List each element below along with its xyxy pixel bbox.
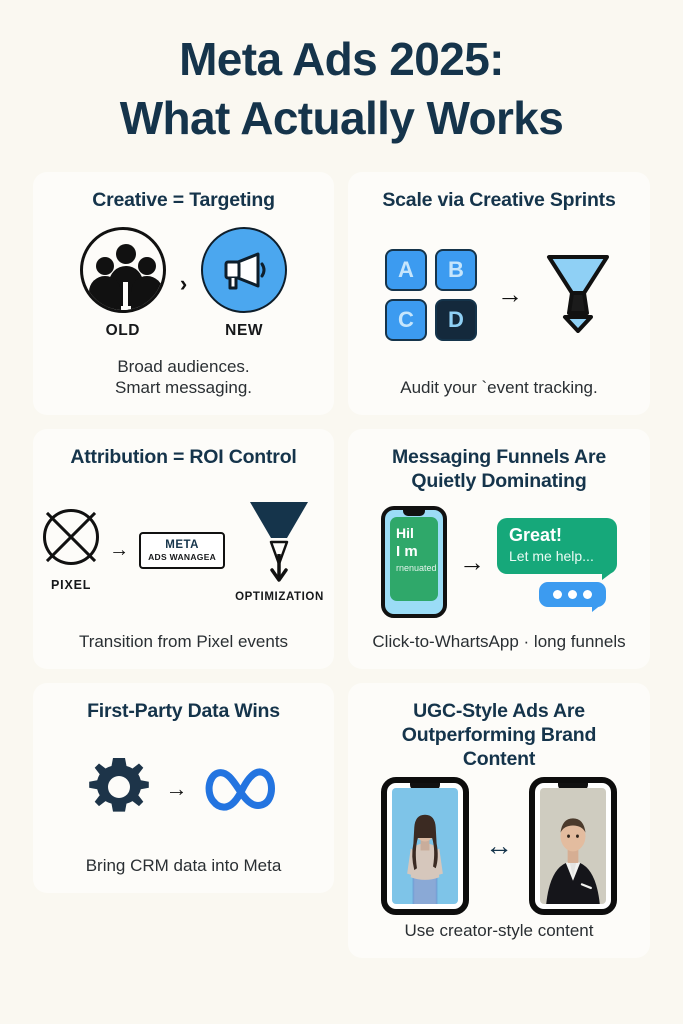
caption-line-1: Audit your `event tracking.: [400, 377, 597, 399]
infographic-poster: Meta Ads 2025: What Actually Works Creat…: [0, 0, 683, 1024]
card-visual: PIXEL → META ADS WANAGEA: [43, 469, 324, 631]
card-caption: Use creator-style content: [405, 920, 594, 942]
caption-line-1: Bring CRM data into Meta: [86, 855, 282, 877]
variant-tile-d[interactable]: D: [435, 299, 477, 341]
funnel-icon: [543, 251, 613, 338]
new-label: NEW: [225, 322, 263, 340]
card-title-line-3: Content: [402, 747, 596, 771]
card-caption: Transition from Pixel events: [79, 631, 288, 653]
card-ugc-style-ads[interactable]: UGC-Style Ads Are Outperforming Brand Co…: [348, 683, 650, 958]
card-title: Attribution = ROI Control: [70, 445, 296, 469]
box-line-1: META: [148, 539, 216, 551]
card-title: Messaging Funnels Are Quietly Dominating: [392, 445, 606, 493]
crossed-circle-icon: [43, 509, 99, 565]
card-title: Scale via Creative Sprints: [382, 188, 615, 212]
pixel-group: PIXEL: [43, 509, 99, 592]
typing-bubble-icon: [539, 582, 606, 607]
card-caption: Broad audiences. Smart messaging.: [115, 356, 252, 400]
card-visual: ↔: [358, 772, 640, 921]
brand-photo: [540, 788, 606, 904]
old-vs-new-comparison: OLD › NE: [80, 227, 287, 340]
phone-creator-icon: [381, 777, 469, 915]
gear-icon: [88, 756, 150, 823]
messaging-diagram: Hil I m rnenuated → Great! Let me help..…: [381, 506, 617, 618]
card-title-line-2: Outperforming Brand: [402, 723, 596, 747]
caption-line-1: Use creator-style content: [405, 920, 594, 942]
card-visual: OLD › NE: [43, 212, 324, 355]
megaphone-icon: [201, 227, 287, 313]
card-title-line-1: UGC-Style Ads Are: [402, 699, 596, 723]
variant-tile-b[interactable]: B: [435, 249, 477, 291]
caption-line-2: Smart messaging.: [115, 377, 252, 399]
card-attribution-roi[interactable]: Attribution = ROI Control PIXEL → META A…: [33, 429, 334, 669]
phone-notch: [403, 510, 425, 516]
meta-logo-icon: [204, 762, 280, 817]
card-visual: →: [43, 723, 324, 855]
sprint-diagram: A B C D →: [385, 249, 613, 341]
bubble-line-1: Hil: [396, 525, 432, 541]
reply-bubbles: Great! Let me help...: [497, 518, 617, 607]
ugc-comparison: ↔: [381, 777, 617, 915]
title-line-2: What Actually Works: [0, 89, 683, 148]
card-caption: Click-to-WhartsApp · long funnels: [372, 631, 625, 653]
caption-line-1: Transition from Pixel events: [79, 631, 288, 653]
right-arrow-icon: →: [497, 279, 523, 310]
page-title: Meta Ads 2025: What Actually Works: [0, 30, 683, 148]
cards-row-1: Creative = Targeting OLD ›: [33, 172, 650, 415]
reply-headline: Great!: [509, 526, 605, 546]
card-messaging-funnels[interactable]: Messaging Funnels Are Quietly Dominating…: [348, 429, 650, 669]
right-arrow-icon: →: [166, 776, 188, 802]
creator-photo: [392, 788, 458, 904]
old-group: OLD: [80, 227, 166, 340]
bubble-line-2: I m: [396, 543, 432, 560]
double-arrow-icon: ↔: [485, 830, 513, 862]
card-title: First-Party Data Wins: [87, 699, 280, 723]
cards-grid: Creative = Targeting OLD ›: [33, 172, 650, 972]
phone-brand-icon: [529, 777, 617, 915]
first-party-diagram: →: [88, 756, 280, 823]
funnel-icon: [242, 498, 316, 587]
comparison-separator: ›: [180, 271, 187, 297]
card-title: Creative = Targeting: [92, 188, 275, 212]
pixel-label: PIXEL: [51, 578, 91, 592]
card-first-party-data[interactable]: First-Party Data Wins →: [33, 683, 334, 893]
right-arrow-icon: →: [459, 547, 485, 578]
card-caption: Audit your `event tracking.: [400, 377, 597, 399]
card-creative-sprints[interactable]: Scale via Creative Sprints A B C D →: [348, 172, 650, 415]
cards-row-3: First-Party Data Wins →: [33, 683, 650, 958]
variant-tile-a[interactable]: A: [385, 249, 427, 291]
meta-ads-manager-box: META ADS WANAGEA: [139, 532, 225, 569]
variant-tiles: A B C D: [385, 249, 477, 341]
right-arrow-icon: →: [109, 539, 129, 562]
reply-subline: Let me help...: [509, 548, 605, 564]
card-visual: Hil I m rnenuated → Great! Let me help..…: [358, 493, 640, 631]
card-caption: Bring CRM data into Meta: [86, 855, 282, 877]
cards-row-2: Attribution = ROI Control PIXEL → META A…: [33, 429, 650, 669]
card-visual: A B C D →: [358, 212, 640, 377]
people-group-icon: [80, 227, 166, 313]
attribution-diagram: PIXEL → META ADS WANAGEA: [43, 498, 324, 603]
box-line-2: ADS WANAGEA: [148, 552, 216, 562]
bubble-line-3: rnenuated: [396, 563, 432, 573]
card-title-line-1: Messaging Funnels Are: [392, 445, 606, 469]
title-line-1: Meta Ads 2025:: [0, 30, 683, 89]
variant-tile-c[interactable]: C: [385, 299, 427, 341]
new-group: NEW: [201, 227, 287, 340]
card-title-line-2: Quietly Dominating: [392, 469, 606, 493]
chat-bubble-icon: Great! Let me help...: [497, 518, 617, 574]
old-label: OLD: [106, 322, 141, 340]
optimization-label: OPTIMIZATION: [235, 591, 324, 603]
card-creative-targeting[interactable]: Creative = Targeting OLD ›: [33, 172, 334, 415]
card-title: UGC-Style Ads Are Outperforming Brand Co…: [402, 699, 596, 772]
caption-line-1: Broad audiences.: [115, 356, 252, 378]
phone-icon: Hil I m rnenuated: [381, 506, 447, 618]
optimization-group: OPTIMIZATION: [235, 498, 324, 603]
caption-line-1: Click-to-WhartsApp · long funnels: [372, 631, 625, 653]
chat-bubble-incoming: Hil I m rnenuated: [390, 517, 438, 601]
